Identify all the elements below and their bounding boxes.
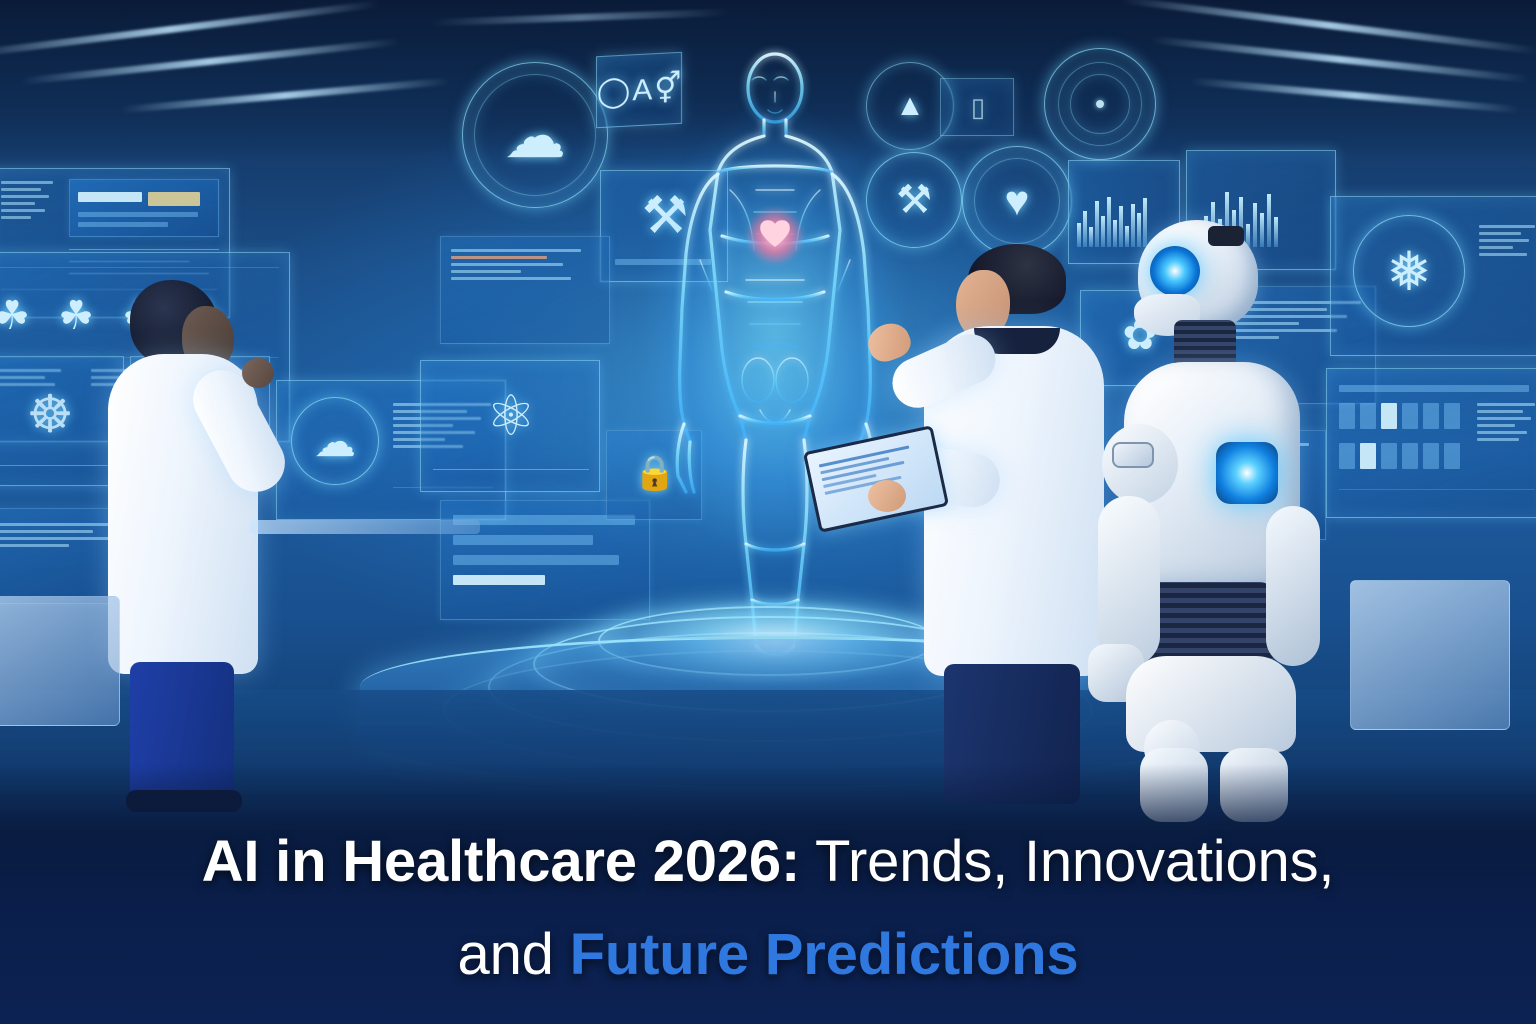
brain-scan-icon: ☁ [496,96,574,174]
hologram-figure-svg [660,40,890,660]
title-and-part: and [458,922,570,987]
lab-bench [250,520,480,534]
hero-banner: ☘ ☘ ☘ ☘ ☸ ☘ ☁ [0,0,1536,1024]
robot-arm-left [1098,496,1160,666]
robot-chest-core-icon [1216,442,1278,504]
holographic-human-body [660,40,890,660]
title-bold-part: AI in Healthcare 2026: [202,829,800,894]
title-regular-part: Trends, Innovations, [800,829,1334,894]
robot-shoulder-port [1112,442,1154,468]
hud-monitor-ct-scan: ❅ [1330,196,1536,356]
lab-cabinet-right [1350,580,1510,730]
lab-cabinet-left [0,596,120,726]
heart-monitor-icon: ♥ [988,172,1046,230]
humanoid-robot [1090,220,1350,820]
robot-eye-icon [1150,246,1200,296]
robot-arm-right [1266,506,1320,666]
robot-head-visor [1208,226,1244,246]
page-title-line-1: AI in Healthcare 2026: Trends, Innovatio… [0,832,1536,892]
doctor-left-hand [242,358,274,388]
hud-monitor-lab-table [1326,368,1536,518]
title-accent-part: Future Predictions [570,922,1079,987]
doctor-right [860,240,1120,810]
page-title-line-2: and Future Predictions [0,925,1536,985]
doctor-right-hand-tablet [868,480,906,512]
doctor-left [90,280,290,810]
